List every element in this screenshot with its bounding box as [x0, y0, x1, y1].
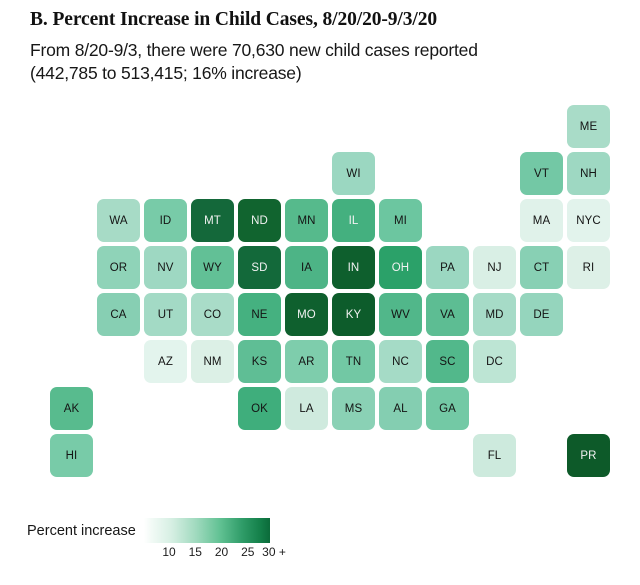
state-tile-wy[interactable]: WY [191, 246, 234, 289]
state-tile-wv[interactable]: WV [379, 293, 422, 336]
state-tile-dc[interactable]: DC [473, 340, 516, 383]
state-tile-label: WA [109, 215, 127, 227]
state-tile-label: VT [534, 168, 549, 180]
state-tile-ar[interactable]: AR [285, 340, 328, 383]
state-tile-ky[interactable]: KY [332, 293, 375, 336]
state-tile-label: LA [299, 403, 313, 415]
state-tile-in[interactable]: IN [332, 246, 375, 289]
state-tile-label: CT [534, 262, 550, 274]
state-tile-label: ME [580, 121, 597, 133]
state-tile-label: ND [251, 215, 268, 227]
state-tile-label: AR [298, 356, 314, 368]
state-tile-label: MI [394, 215, 407, 227]
legend-tick: 10 [162, 545, 175, 559]
state-tile-label: AK [64, 403, 80, 415]
state-tile-label: MO [297, 309, 316, 321]
state-tile-label: WV [391, 309, 410, 321]
state-tile-label: NJ [487, 262, 501, 274]
state-tile-label: KY [346, 309, 362, 321]
state-tile-ga[interactable]: GA [426, 387, 469, 430]
us-state-tile-map: MEWIVTNHWAIDMTNDMNILMIMANYCORNVWYSDIAINO… [0, 92, 640, 492]
state-tile-label: AZ [158, 356, 173, 368]
state-tile-nv[interactable]: NV [144, 246, 187, 289]
state-tile-label: PA [440, 262, 455, 274]
figure-subtitle: From 8/20-9/3, there were 70,630 new chi… [0, 31, 640, 85]
state-tile-nm[interactable]: NM [191, 340, 234, 383]
state-tile-hi[interactable]: HI [50, 434, 93, 477]
legend-tick: 20 [215, 545, 228, 559]
state-tile-ct[interactable]: CT [520, 246, 563, 289]
state-tile-pr[interactable]: PR [567, 434, 610, 477]
state-tile-oh[interactable]: OH [379, 246, 422, 289]
state-tile-il[interactable]: IL [332, 199, 375, 242]
state-tile-az[interactable]: AZ [144, 340, 187, 383]
state-tile-md[interactable]: MD [473, 293, 516, 336]
state-tile-ms[interactable]: MS [332, 387, 375, 430]
state-tile-label: NM [203, 356, 221, 368]
state-tile-me[interactable]: ME [567, 105, 610, 148]
state-tile-label: MN [297, 215, 315, 227]
state-tile-or[interactable]: OR [97, 246, 140, 289]
legend-tick: 15 [189, 545, 202, 559]
state-tile-label: NH [580, 168, 597, 180]
state-tile-label: MS [345, 403, 362, 415]
state-tile-id[interactable]: ID [144, 199, 187, 242]
state-tile-label: PR [580, 450, 596, 462]
state-tile-ca[interactable]: CA [97, 293, 140, 336]
state-tile-nd[interactable]: ND [238, 199, 281, 242]
state-tile-label: OR [110, 262, 127, 274]
state-tile-label: CO [204, 309, 221, 321]
state-tile-la[interactable]: LA [285, 387, 328, 430]
state-tile-pa[interactable]: PA [426, 246, 469, 289]
state-tile-label: OH [392, 262, 409, 274]
state-tile-label: DE [533, 309, 549, 321]
legend-tick: 25 [241, 545, 254, 559]
state-tile-label: NV [157, 262, 173, 274]
state-tile-va[interactable]: VA [426, 293, 469, 336]
state-tile-label: VA [440, 309, 455, 321]
state-tile-nc[interactable]: NC [379, 340, 422, 383]
state-tile-ma[interactable]: MA [520, 199, 563, 242]
state-tile-label: FL [488, 450, 502, 462]
legend-label: Percent increase [27, 523, 136, 539]
state-tile-nh[interactable]: NH [567, 152, 610, 195]
state-tile-wa[interactable]: WA [97, 199, 140, 242]
state-tile-al[interactable]: AL [379, 387, 422, 430]
figure-header: B. Percent Increase in Child Cases, 8/20… [0, 0, 640, 85]
figure-panel: B. Percent Increase in Child Cases, 8/20… [0, 0, 640, 585]
state-tile-ks[interactable]: KS [238, 340, 281, 383]
state-tile-label: DC [486, 356, 503, 368]
state-tile-ut[interactable]: UT [144, 293, 187, 336]
legend-color-gradient [144, 518, 270, 543]
state-tile-de[interactable]: DE [520, 293, 563, 336]
legend-tick: 30 + [262, 545, 286, 559]
state-tile-mi[interactable]: MI [379, 199, 422, 242]
state-tile-nyc[interactable]: NYC [567, 199, 610, 242]
state-tile-label: MT [204, 215, 221, 227]
legend: Percent increase 1015202530 + [0, 505, 640, 565]
state-tile-fl[interactable]: FL [473, 434, 516, 477]
state-tile-label: SD [251, 262, 267, 274]
state-tile-label: CA [110, 309, 126, 321]
state-tile-label: GA [439, 403, 456, 415]
state-tile-wi[interactable]: WI [332, 152, 375, 195]
state-tile-vt[interactable]: VT [520, 152, 563, 195]
state-tile-mn[interactable]: MN [285, 199, 328, 242]
state-tile-ok[interactable]: OK [238, 387, 281, 430]
state-tile-label: IA [301, 262, 312, 274]
state-tile-tn[interactable]: TN [332, 340, 375, 383]
state-tile-label: AL [393, 403, 407, 415]
state-tile-label: NYC [576, 215, 601, 227]
state-tile-ne[interactable]: NE [238, 293, 281, 336]
state-tile-label: SC [439, 356, 455, 368]
state-tile-sd[interactable]: SD [238, 246, 281, 289]
page-title: B. Percent Increase in Child Cases, 8/20… [0, 0, 640, 31]
state-tile-mo[interactable]: MO [285, 293, 328, 336]
state-tile-label: MA [533, 215, 550, 227]
state-tile-co[interactable]: CO [191, 293, 234, 336]
state-tile-label: OK [251, 403, 268, 415]
legend-tick-labels: 1015202530 + [144, 545, 279, 561]
state-tile-label: NC [392, 356, 409, 368]
state-tile-label: RI [583, 262, 595, 274]
state-tile-label: TN [346, 356, 362, 368]
state-tile-sc[interactable]: SC [426, 340, 469, 383]
state-tile-label: UT [158, 309, 174, 321]
state-tile-label: WI [346, 168, 360, 180]
state-tile-ia[interactable]: IA [285, 246, 328, 289]
state-tile-label: IL [349, 215, 359, 227]
state-tile-label: NE [251, 309, 267, 321]
state-tile-ak[interactable]: AK [50, 387, 93, 430]
state-tile-label: WY [203, 262, 222, 274]
state-tile-label: ID [160, 215, 172, 227]
state-tile-label: IN [348, 262, 360, 274]
state-tile-label: KS [252, 356, 268, 368]
state-tile-ri[interactable]: RI [567, 246, 610, 289]
state-tile-nj[interactable]: NJ [473, 246, 516, 289]
state-tile-label: HI [66, 450, 78, 462]
state-tile-label: MD [485, 309, 503, 321]
state-tile-mt[interactable]: MT [191, 199, 234, 242]
